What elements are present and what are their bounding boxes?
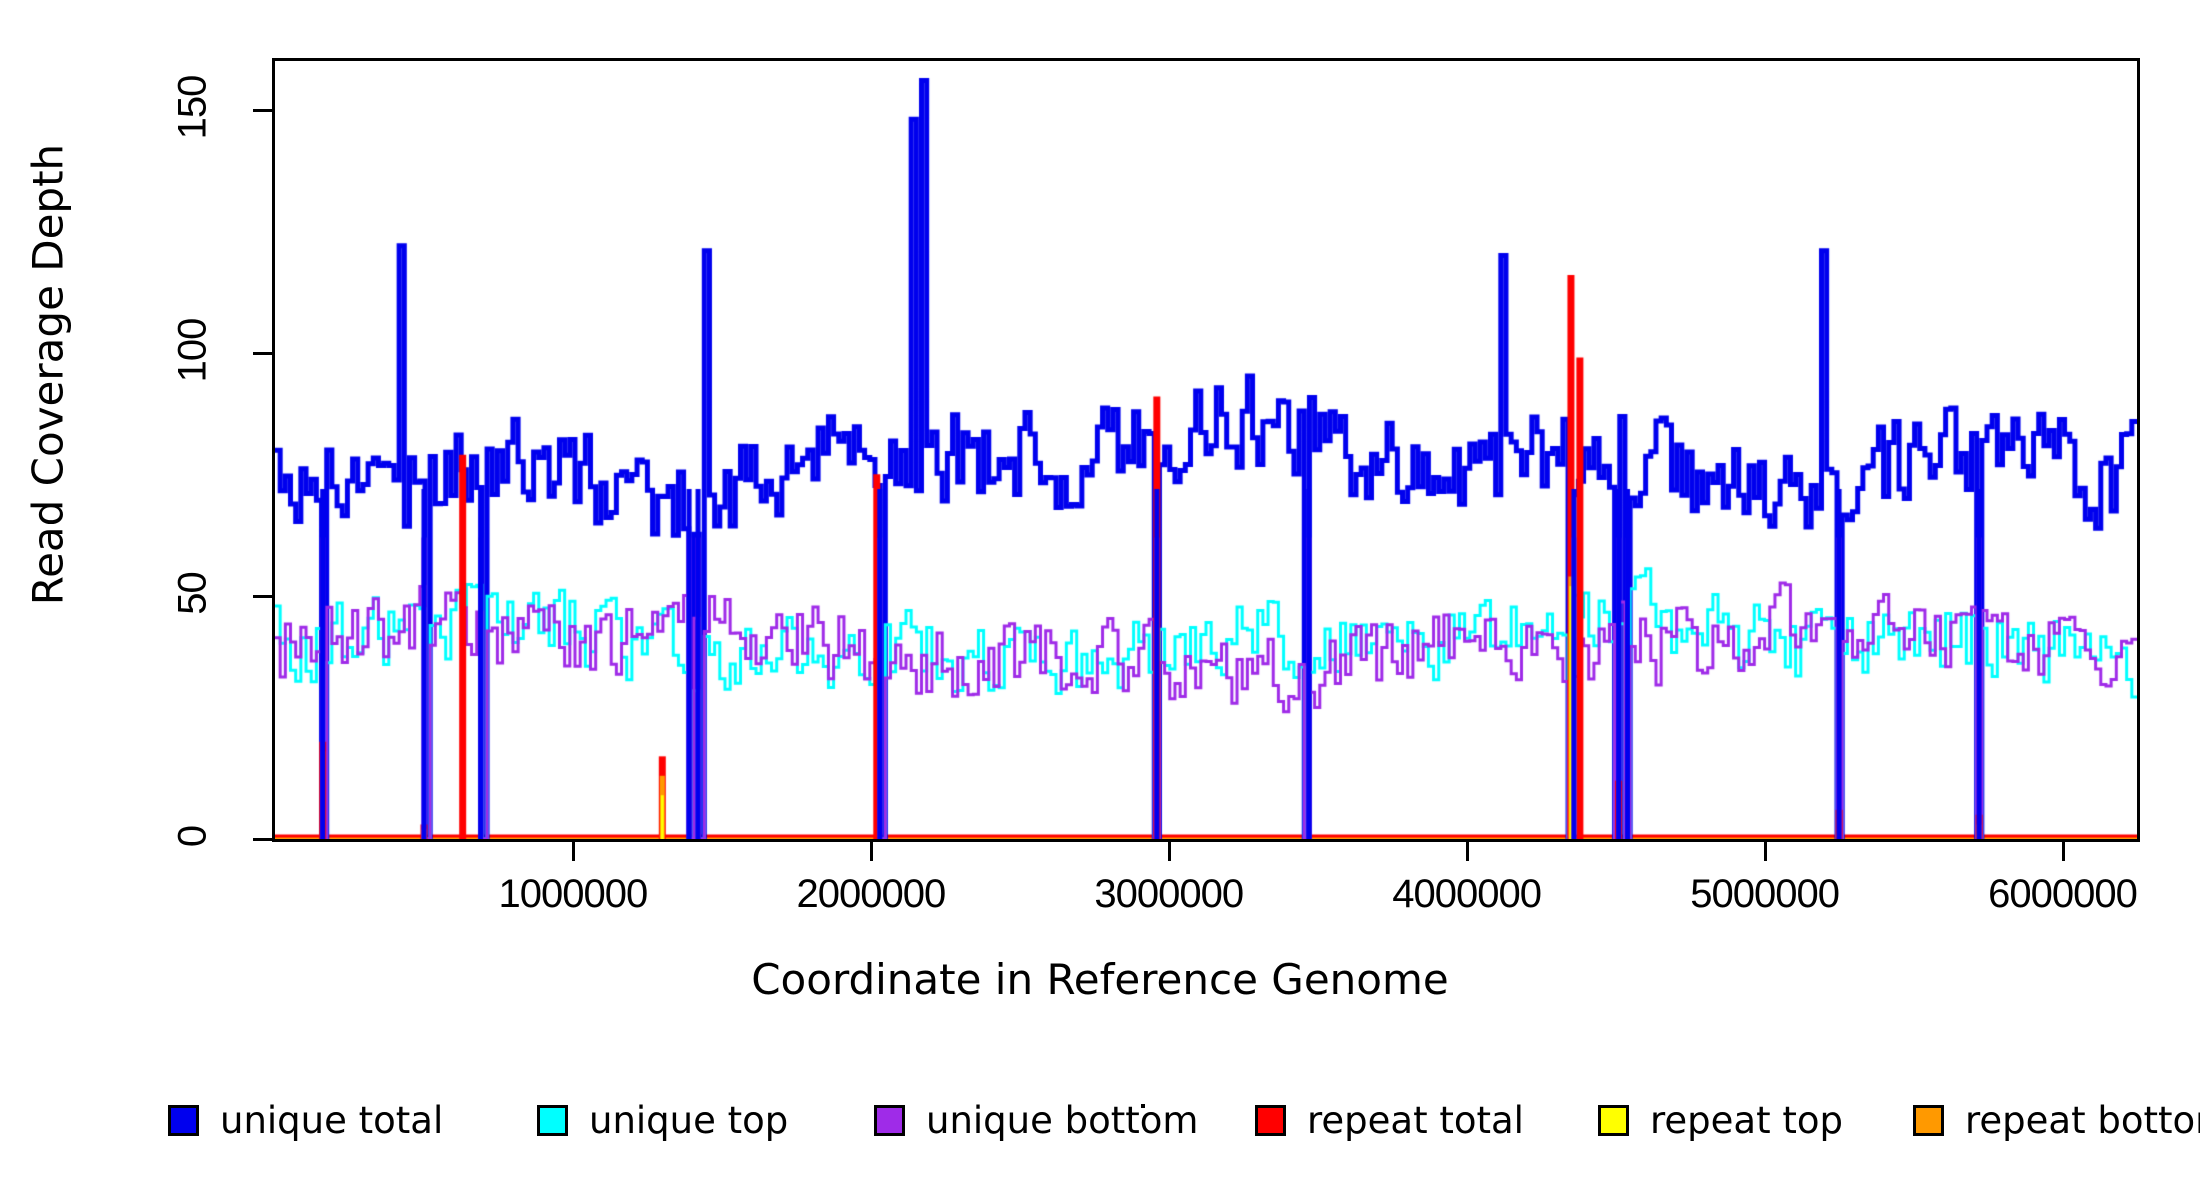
legend-swatch-icon — [1255, 1105, 1286, 1136]
legend-stray-dot — [1141, 1104, 1145, 1108]
legend-swatch-icon — [1913, 1105, 1944, 1136]
legend-label: repeat total — [1307, 1099, 1524, 1142]
legend-swatch-icon — [1598, 1105, 1629, 1136]
x-tick-label: 2000000 — [796, 872, 945, 917]
y-tick-mark — [253, 352, 272, 355]
y-tick-mark — [253, 109, 272, 112]
x-tick-mark — [572, 842, 575, 861]
x-tick-mark — [2062, 842, 2065, 861]
y-tick-label: 0 — [171, 777, 216, 897]
legend-swatch-icon — [537, 1105, 568, 1136]
x-tick-mark — [1466, 842, 1469, 861]
x-tick-mark — [870, 842, 873, 861]
x-tick-label: 1000000 — [499, 872, 648, 917]
legend-label: repeat bottom — [1965, 1099, 2200, 1142]
y-axis-title: Read Coverage Depth — [24, 0, 73, 775]
legend-label: unique top — [589, 1099, 788, 1142]
plot-area — [272, 58, 2140, 842]
x-axis-title: Coordinate in Reference Genome — [0, 955, 2200, 1004]
legend-label: unique bottom — [926, 1099, 1198, 1142]
legend-swatch-icon — [874, 1105, 905, 1136]
legend-label: repeat top — [1650, 1099, 1843, 1142]
x-tick-label: 6000000 — [1988, 872, 2137, 917]
legend-item-repeat-bottom[interactable]: repeat bottom — [1913, 1090, 2200, 1150]
legend-item-repeat-top[interactable]: repeat top — [1598, 1090, 1843, 1150]
legend-item-unique-total[interactable]: unique total — [168, 1090, 443, 1150]
y-tick-label: 100 — [171, 290, 216, 410]
y-tick-label: 150 — [171, 47, 216, 167]
chart-root: Read Coverage Depth 050100150 1000000200… — [0, 0, 2200, 1200]
coverage-plot-canvas — [275, 61, 2137, 839]
y-tick-label: 50 — [171, 533, 216, 653]
legend-item-unique-bottom[interactable]: unique bottom — [874, 1090, 1198, 1150]
y-tick-mark — [253, 838, 272, 841]
x-tick-mark — [1764, 842, 1767, 861]
legend-item-repeat-total[interactable]: repeat total — [1255, 1090, 1524, 1150]
y-tick-mark — [253, 595, 272, 598]
x-tick-mark — [1168, 842, 1171, 861]
legend-swatch-icon — [168, 1105, 199, 1136]
x-tick-label: 3000000 — [1094, 872, 1243, 917]
legend-label: unique total — [220, 1099, 443, 1142]
legend-item-unique-top[interactable]: unique top — [537, 1090, 788, 1150]
x-tick-label: 5000000 — [1690, 872, 1839, 917]
x-tick-label: 4000000 — [1392, 872, 1541, 917]
chart-legend: unique totalunique topunique bottomrepea… — [0, 1090, 2200, 1150]
